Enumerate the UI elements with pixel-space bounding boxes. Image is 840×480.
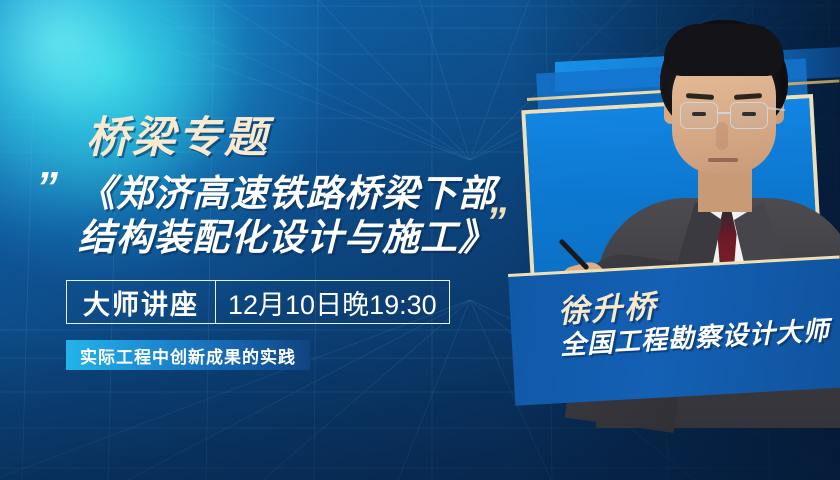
tagline-banner: 实际工程中创新成果的实践 [66, 340, 310, 370]
lecture-datetime: 12月10日晚19:30 [216, 281, 449, 323]
portrait-glasses-right-lens [730, 102, 768, 129]
quote-close-icon: ” [486, 202, 502, 242]
lecture-title-line-1: 《郑济高速铁路桥梁下部 [78, 172, 498, 216]
quote-open-icon: ” [36, 166, 54, 210]
portrait-glasses-bridge [718, 112, 730, 114]
page-title: 桥梁专题 [86, 103, 270, 165]
lecture-type-label: 大师讲座 [67, 281, 216, 323]
portrait-nose [716, 122, 728, 150]
poster-canvas: 徐升桥 全国工程勘察设计大师 桥梁专题 ” 《郑济高速铁路桥梁下部 结构装配化设… [0, 0, 840, 480]
portrait-hair-front [664, 24, 784, 76]
lecture-title-line-2: 结构装配化设计与施工》 [78, 216, 498, 260]
lecture-info-box: 大师讲座 12月10日晚19:30 [66, 280, 450, 324]
speaker-name-group: 徐升桥 全国工程勘察设计大师 [557, 281, 830, 360]
speaker-name-panel: 徐升桥 全国工程勘察设计大师 [508, 255, 840, 405]
portrait-mouth [708, 158, 738, 162]
lecture-title: 《郑济高速铁路桥梁下部 结构装配化设计与施工》 [78, 172, 498, 261]
portrait-glasses-left-lens [680, 102, 718, 129]
